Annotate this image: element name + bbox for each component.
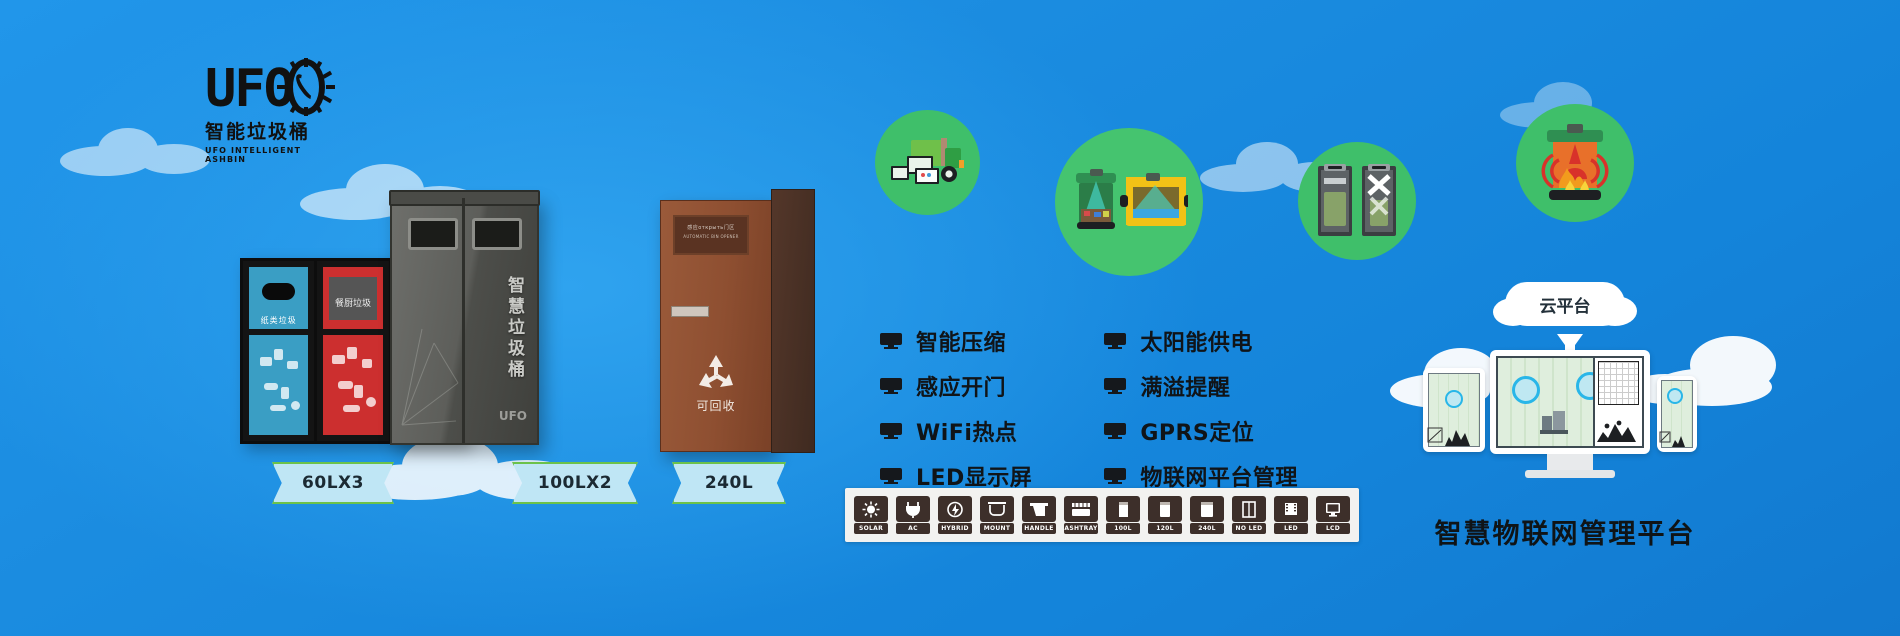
chart-view — [1593, 358, 1642, 446]
spec-label: HANDLE — [1022, 523, 1056, 534]
feature-item: WiFi热点 — [880, 415, 1032, 447]
spec-icon-no-led: NO LED — [1231, 496, 1267, 534]
brand-logo: UFO 智能垃圾桶 UFO INTELLIGENT ASHBIN — [205, 55, 325, 164]
recycle-icon — [696, 353, 736, 391]
spec-icon-mount: MOUNT — [979, 496, 1015, 534]
panel-line-1: 感应открыть门区 — [675, 224, 747, 231]
cloud-platform-badge: 云平台 — [1505, 282, 1625, 326]
wall-mount-icon — [987, 501, 1007, 518]
desktop-monitor — [1490, 350, 1650, 454]
logo-chinese-name: 智能垃圾桶 — [205, 117, 325, 144]
monitor-bullet-icon — [880, 333, 902, 349]
panel-line-2: AUTOMATIC BIN OPENER — [675, 234, 747, 239]
compartment-label: 纸类垃圾 — [249, 315, 308, 326]
capacity-ribbon-100lx2: 100LX2 — [512, 462, 638, 504]
line-chart-grid — [1598, 361, 1639, 405]
spec-icon-strip: SOLAR AC HYBRID MOUNT — [845, 488, 1359, 542]
phone-screen — [1661, 380, 1693, 448]
ribbon-label: 240L — [705, 473, 753, 493]
spec-label: 120L — [1148, 523, 1182, 534]
single-solar-bin: 感应открыть门区 AUTOMATIC BIN OPENER 可回收 — [660, 200, 772, 452]
monitor-bullet-icon — [880, 378, 902, 394]
feature-column-right: 太阳能供电 满溢提醒 GPRS定位 物联网平台管理 — [1104, 325, 1298, 492]
feature-item: 感应开门 — [880, 370, 1032, 402]
oval-slot-icon — [262, 283, 295, 300]
area-chart — [1597, 418, 1645, 444]
spec-label: 240L — [1190, 523, 1224, 534]
tablet-device — [1423, 368, 1485, 452]
smartphone-device — [1657, 376, 1697, 452]
monitor-base — [1525, 470, 1615, 478]
fire-alarm-icon — [1533, 122, 1617, 204]
iot-platform-illustration: 云平台 — [1425, 300, 1705, 500]
feature-circle-fill-level — [1055, 128, 1203, 276]
feature-item: 太阳能供电 — [1104, 325, 1298, 357]
fill-level-sensor-icon — [1070, 165, 1188, 239]
spec-label: MOUNT — [980, 523, 1014, 534]
hybrid-power-icon — [945, 501, 965, 518]
bin-compartment-paper: 纸类垃圾 — [243, 261, 317, 441]
lcd-icon — [1323, 501, 1343, 518]
monitor-bullet-icon — [880, 468, 902, 484]
deposit-port-left — [408, 218, 458, 250]
spec-icon-hybrid: HYBRID — [937, 496, 973, 534]
feature-circle-truck-monitoring — [875, 110, 980, 215]
feature-circle-compaction — [1298, 142, 1416, 260]
bin-side-panel — [771, 189, 815, 453]
feature-label: 智能压缩 — [916, 325, 1006, 357]
monitor-bullet-icon — [880, 423, 902, 439]
display-panel: 餐厨垃圾 — [329, 277, 376, 320]
bin-240l-icon — [1197, 501, 1217, 518]
spec-label: LCD — [1316, 523, 1350, 534]
double-compactor-bin: 智慧垃圾桶 UFO — [390, 196, 539, 445]
garbage-truck-monitoring-icon — [889, 134, 967, 192]
monitor-bullet-icon — [1104, 468, 1126, 484]
recycle-label: 可回收 — [661, 397, 771, 414]
deposit-slot — [671, 306, 709, 317]
spec-icon-solar: SOLAR — [853, 496, 889, 534]
spec-icon-120l: 120L — [1147, 496, 1183, 534]
sun-icon — [861, 501, 881, 518]
building-icon — [1540, 408, 1568, 434]
feature-list: 智能压缩 感应开门 WiFi热点 LED显示屏 太阳能供电 满溢提醒 — [880, 325, 1298, 492]
spec-label: 100L — [1106, 523, 1140, 534]
spec-label: ASHTRAY — [1064, 523, 1098, 534]
feature-circle-fire-alarm — [1516, 104, 1634, 222]
spec-icon-100l: 100L — [1105, 496, 1141, 534]
bin-100l-icon — [1113, 501, 1133, 518]
tablet-screen — [1428, 373, 1480, 447]
gear-ring-icon — [287, 59, 325, 115]
monitor-screen — [1496, 356, 1644, 448]
feature-item: 满溢提醒 — [1104, 370, 1298, 402]
spec-label: SOLAR — [854, 523, 888, 534]
feature-label: 满溢提醒 — [1140, 370, 1230, 402]
spec-icon-handle: HANDLE — [1021, 496, 1057, 534]
spec-icon-240l: 240L — [1189, 496, 1225, 534]
phone-chart — [1659, 430, 1689, 450]
panel-graphic — [400, 325, 460, 435]
monitor-bullet-icon — [1104, 378, 1126, 394]
spec-icon-lcd: LCD — [1315, 496, 1351, 534]
monitor-bullet-icon — [1104, 423, 1126, 439]
logo-wordmark: UFO — [205, 63, 293, 115]
bin-120l-icon — [1155, 501, 1175, 518]
spec-icon-ac: AC — [895, 496, 931, 534]
bin-brand-mark: UFO — [499, 409, 527, 423]
ashtray-icon — [1071, 501, 1091, 518]
monitor-bullet-icon — [1104, 333, 1126, 349]
led-icon — [1281, 501, 1301, 518]
platform-title: 智慧物联网管理平台 — [1400, 512, 1730, 551]
power-plug-icon — [903, 501, 923, 518]
waste-compaction-icon — [1314, 162, 1400, 240]
spec-icon-led: LED — [1273, 496, 1309, 534]
spec-label: NO LED — [1232, 523, 1266, 534]
bin-seam — [462, 198, 465, 443]
map-view — [1498, 358, 1593, 446]
spec-label: LED — [1274, 523, 1308, 534]
bin-vertical-label: 智慧垃圾桶 — [502, 276, 527, 381]
ribbon-label: 100LX2 — [538, 473, 612, 493]
ribbon-label: 60LX3 — [302, 473, 364, 493]
bin-compartment-kitchen: 餐厨垃圾 — [317, 261, 391, 441]
feature-item: GPRS定位 — [1104, 415, 1298, 447]
bin-info-panel: 感应открыть门区 AUTOMATIC BIN OPENER — [673, 215, 749, 255]
logo-english-name: UFO INTELLIGENT ASHBIN — [205, 146, 325, 164]
tablet-chart — [1427, 424, 1475, 450]
cloud-decoration — [60, 120, 220, 180]
cloud-platform-label: 云平台 — [1540, 292, 1591, 317]
deposit-port-right — [472, 218, 522, 250]
spec-icon-ashtray: ASHTRAY — [1063, 496, 1099, 534]
no-led-icon — [1239, 501, 1259, 518]
spec-label: HYBRID — [938, 523, 972, 534]
capacity-ribbon-240l: 240L — [672, 462, 786, 504]
spec-label: AC — [896, 523, 930, 534]
compartment-label: 餐厨垃圾 — [329, 296, 376, 309]
handle-icon — [1029, 501, 1049, 518]
feature-item: 智能压缩 — [880, 325, 1032, 357]
capacity-ribbon-60lx3: 60LX3 — [272, 462, 394, 504]
feature-label: 太阳能供电 — [1140, 325, 1253, 357]
feature-column-left: 智能压缩 感应开门 WiFi热点 LED显示屏 — [880, 325, 1032, 492]
feature-label: GPRS定位 — [1140, 415, 1254, 447]
product-banner: UFO 智能垃圾桶 UFO INTELLIGENT ASHBIN — [0, 0, 1900, 636]
feature-label: WiFi热点 — [916, 415, 1017, 447]
feature-label: 感应开门 — [916, 370, 1006, 402]
